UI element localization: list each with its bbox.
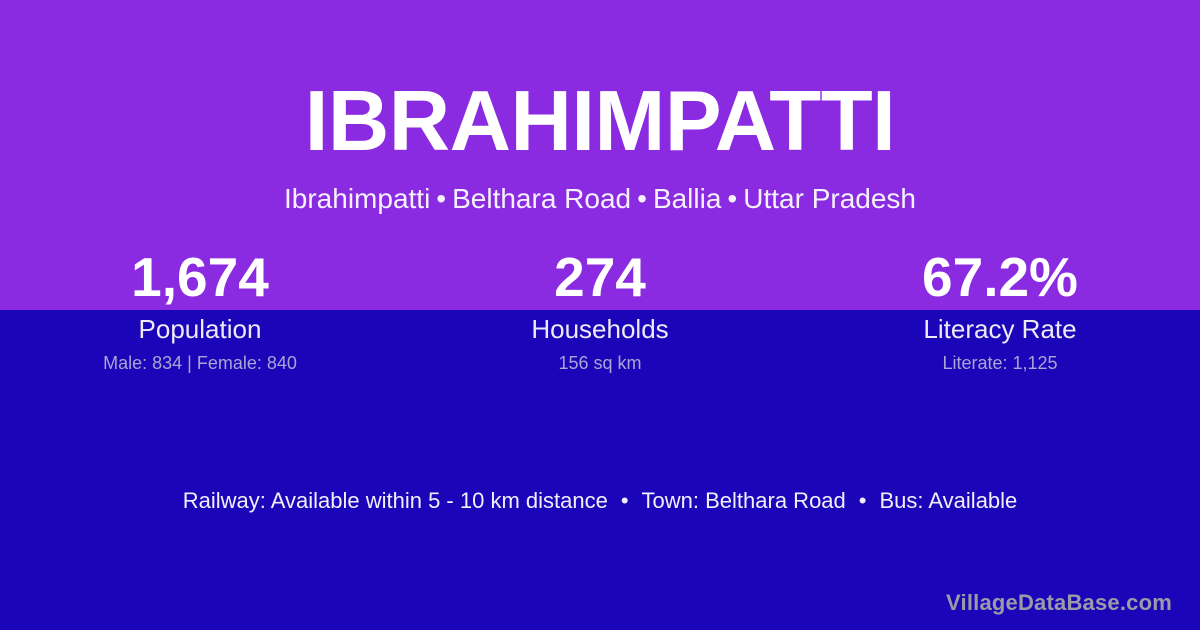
breadcrumb-district: Ballia xyxy=(653,183,721,214)
stats-row: 1,674 Population Male: 834 | Female: 840… xyxy=(0,248,1200,374)
facility-railway: Railway: Available within 5 - 10 km dist… xyxy=(183,488,608,513)
page-title: IBRAHIMPATTI xyxy=(0,76,1200,168)
facility-separator-2: • xyxy=(846,488,880,513)
breadcrumb-separator-1: • xyxy=(430,183,452,214)
stat-literacy-rate: 67.2% Literacy Rate Literate: 1,125 xyxy=(800,248,1200,374)
stat-households-value: 274 xyxy=(400,248,800,306)
stat-literacy-rate-value: 67.2% xyxy=(800,248,1200,306)
facilities-summary: Railway: Available within 5 - 10 km dist… xyxy=(0,487,1200,515)
stat-households-sub: 156 sq km xyxy=(400,352,800,374)
facility-bus: Bus: Available xyxy=(879,488,1017,513)
breadcrumb-separator-3: • xyxy=(721,183,743,214)
stat-households-label: Households xyxy=(400,314,800,344)
facility-town: Town: Belthara Road xyxy=(642,488,846,513)
site-brand: VillageDataBase.com xyxy=(946,590,1172,616)
breadcrumb-village: Ibrahimpatti xyxy=(284,183,430,214)
breadcrumb: Ibrahimpatti•Belthara Road•Ballia•Uttar … xyxy=(0,181,1200,217)
breadcrumb-block: Belthara Road xyxy=(452,183,631,214)
stat-population-sub: Male: 834 | Female: 840 xyxy=(0,352,400,374)
stat-households: 274 Households 156 sq km xyxy=(400,248,800,374)
stat-population-label: Population xyxy=(0,314,400,344)
facility-separator-1: • xyxy=(608,488,642,513)
stat-literacy-rate-sub: Literate: 1,125 xyxy=(800,352,1200,374)
stat-population-value: 1,674 xyxy=(0,248,400,306)
village-info-card: IBRAHIMPATTI Ibrahimpatti•Belthara Road•… xyxy=(0,0,1200,630)
breadcrumb-separator-2: • xyxy=(631,183,653,214)
stat-population: 1,674 Population Male: 834 | Female: 840 xyxy=(0,248,400,374)
breadcrumb-state: Uttar Pradesh xyxy=(743,183,916,214)
stat-literacy-rate-label: Literacy Rate xyxy=(800,314,1200,344)
